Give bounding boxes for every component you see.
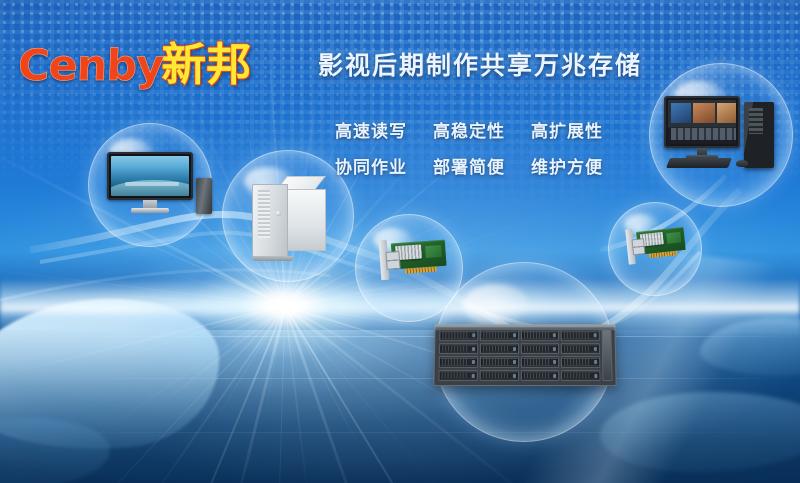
server-psu-panel [602, 329, 613, 381]
monitor-foot [131, 208, 169, 213]
drive-bay [479, 369, 518, 381]
monitor-dock [125, 182, 179, 186]
nic-gold-fingers [405, 266, 437, 273]
nic-sfp-ports [632, 238, 646, 255]
feature-item: 高稳定性 [433, 117, 505, 142]
promo-banner: Cenby 新邦 影视后期制作共享万兆存储 高速读写高稳定性高扩展性 协同作业部… [0, 0, 800, 483]
video-editor-screen [668, 100, 736, 144]
desktop-monitor-icon [107, 152, 193, 214]
nas-base [253, 256, 293, 261]
feature-row-2: 协同作业部署简便维护方便 [335, 153, 603, 178]
monitor-screen [107, 152, 193, 200]
drive-bay [520, 369, 559, 381]
monitor-neck [143, 200, 157, 208]
drive-bay [439, 356, 478, 367]
drive-bay [561, 356, 600, 367]
feature-item: 高速读写 [335, 117, 407, 142]
drive-bay [480, 329, 519, 340]
drive-bay [438, 369, 477, 381]
cenby-logo[interactable]: Cenby 新邦 [18, 28, 251, 93]
drive-bay [520, 356, 559, 367]
nas-front-panel [252, 184, 288, 258]
rack-server-icon [433, 324, 616, 386]
logo-chinese-text: 新邦 [161, 28, 251, 93]
preview-panel [671, 103, 691, 123]
keyboard-icon [666, 158, 732, 168]
logo-english-text: Cenby [17, 41, 164, 91]
nas-side-panel [287, 189, 326, 251]
drive-bay [561, 343, 600, 354]
feature-item: 维护方便 [531, 153, 603, 178]
workstation-monitor [664, 96, 740, 148]
drive-bay [439, 343, 478, 354]
preview-panel [717, 103, 736, 123]
drive-bay [561, 369, 600, 381]
feature-item: 协同作业 [335, 153, 407, 178]
drive-bay [561, 329, 600, 340]
feature-row-1: 高速读写高稳定性高扩展性 [335, 117, 603, 142]
workstation-icon [664, 92, 782, 178]
drive-bay [439, 329, 478, 340]
drive-bay [480, 356, 519, 367]
network-card-icon [373, 235, 454, 282]
feature-item: 部署简便 [433, 153, 505, 178]
preview-panel [693, 103, 715, 123]
drive-bay-grid [438, 329, 600, 381]
network-card-icon [620, 223, 692, 267]
tower-nas-icon [252, 176, 326, 262]
pc-tower-icon [744, 102, 774, 168]
feature-item: 高扩展性 [531, 117, 603, 142]
headline-title: 影视后期制作共享万兆存储 [318, 46, 642, 82]
timeline-strip [671, 128, 736, 140]
monitor-wallpaper [111, 156, 189, 196]
drive-bay [480, 343, 519, 354]
mouse-icon [736, 160, 748, 167]
nas-power-led-icon [276, 211, 281, 216]
nas-vent-grille [258, 190, 270, 238]
drive-bay [521, 329, 560, 340]
external-drive-icon [196, 178, 212, 214]
drive-bay [521, 343, 560, 354]
nic-sfp-ports [385, 251, 400, 270]
